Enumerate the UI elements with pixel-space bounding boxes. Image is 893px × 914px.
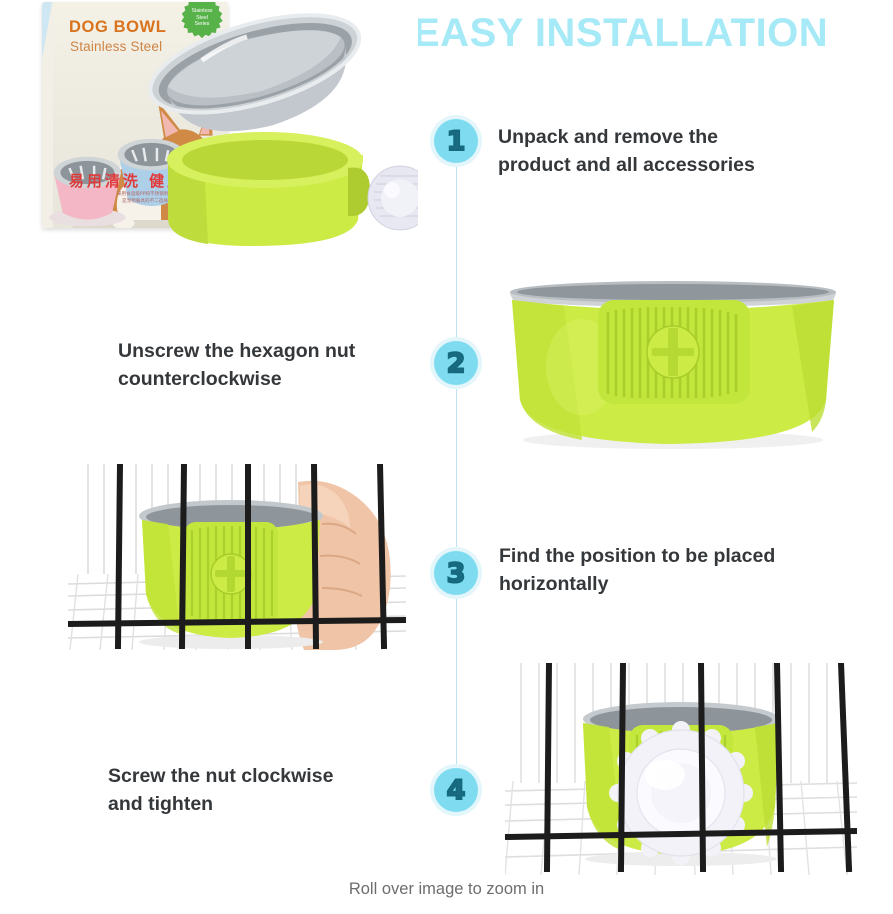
timeline-connector-2-3 — [456, 384, 457, 550]
step-text-1: Unpack and remove the product and all ac… — [498, 124, 858, 179]
step-badge-2: 2 — [434, 341, 478, 385]
step-2-line-1: Unscrew the hexagon nut — [118, 338, 438, 366]
product-infographic-page: EASY INSTALLATION DOG BOWL Stainless Ste… — [0, 0, 893, 914]
step-text-3: Find the position to be placed horizonta… — [499, 543, 879, 598]
step-3-line-2: horizontally — [499, 571, 879, 599]
step-1-line-1: Unpack and remove the — [498, 124, 858, 152]
step-badge-1: 1 — [434, 119, 478, 163]
step-1-line-2: product and all accessories — [498, 152, 858, 180]
step-number-1: 1 — [447, 126, 466, 157]
hexagon-nut-green — [647, 326, 699, 378]
step-text-2: Unscrew the hexagon nut counterclockwise — [118, 338, 438, 393]
step-2-bowl-illustration — [492, 272, 854, 457]
step-4-line-1: Screw the nut clockwise — [108, 763, 438, 791]
zoom-hint-caption: Roll over image to zoom in — [0, 880, 893, 899]
step-badge-3: 3 — [434, 551, 478, 595]
step-4-photo-mounted-bowl-nut — [505, 663, 857, 875]
step-2-photo-bowl-front-nut — [492, 272, 854, 457]
step-number-4: 4 — [447, 775, 466, 806]
step-number-2: 2 — [447, 348, 466, 379]
step-2-line-2: counterclockwise — [118, 366, 438, 394]
knurled-nut-white — [368, 166, 418, 230]
step-4-cage-illustration — [505, 663, 857, 875]
step-3-cage-illustration — [68, 464, 406, 650]
step-3-photo-hand-positioning-cage — [68, 464, 406, 650]
step-1-bowl-illustration — [18, 0, 418, 258]
step-text-4: Screw the nut clockwise and tighten — [108, 763, 438, 818]
step-1-photo-unboxed-bowl: DOG BOWL Stainless Steel Stainless Steel… — [18, 0, 418, 258]
step-badge-4: 4 — [434, 768, 478, 812]
page-title: EASY INSTALLATION — [413, 8, 893, 58]
step-3-line-1: Find the position to be placed — [499, 543, 879, 571]
timeline-connector-1-2 — [456, 162, 457, 340]
step-4-line-2: and tighten — [108, 791, 438, 819]
step-number-3: 3 — [447, 558, 466, 589]
timeline-connector-3-4 — [456, 595, 457, 769]
